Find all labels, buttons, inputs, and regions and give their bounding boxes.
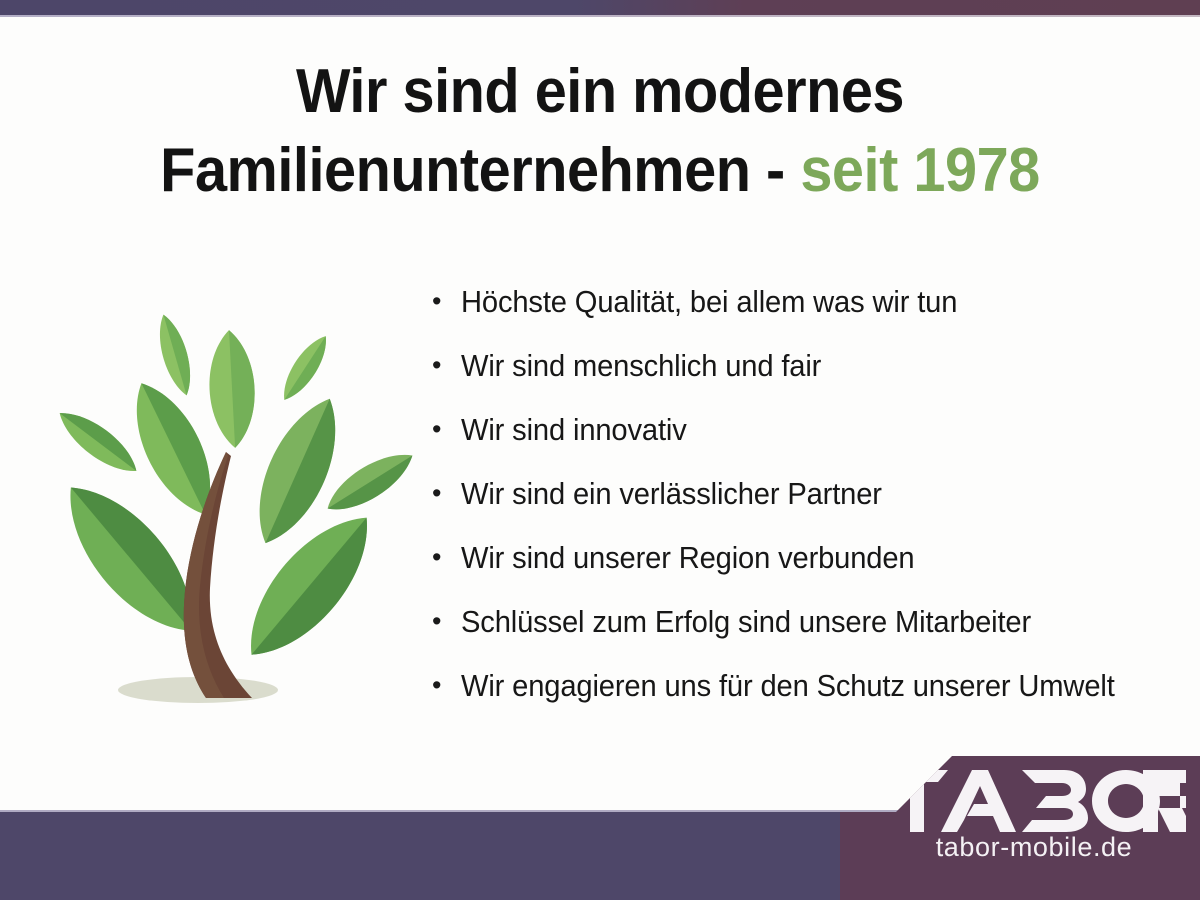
top-accent-bar xyxy=(0,0,1200,15)
list-item-label: Wir sind innovativ xyxy=(461,415,1159,446)
slide-canvas: Wir sind ein modernes Familienunternehme… xyxy=(0,0,1200,900)
leaf-lower-right xyxy=(227,497,391,676)
list-item-label: Wir engagieren uns für den Schutz unsere… xyxy=(461,671,1159,702)
list-item: Schlüssel zum Erfolg sind unsere Mitarbe… xyxy=(432,607,1192,671)
list-item: Wir sind innovativ xyxy=(432,415,1192,479)
brand-logo-block[interactable]: tabor-mobile.de xyxy=(840,756,1200,900)
list-item-label: Schlüssel zum Erfolg sind unsere Mitarbe… xyxy=(461,607,1159,638)
tabor-wordmark xyxy=(886,770,1186,832)
leaf-top-small-right xyxy=(275,330,335,406)
leaf-far-right xyxy=(319,442,420,522)
logo-domain-label: tabor-mobile.de xyxy=(840,834,1200,861)
bullet-marker-icon xyxy=(432,544,461,571)
leaf-top-small-left xyxy=(152,311,198,398)
list-item: Wir sind ein verlässlicher Partner xyxy=(432,479,1192,543)
list-item: Höchste Qualität, bei allem was wir tun xyxy=(432,287,1192,351)
bullet-marker-icon xyxy=(432,352,461,379)
bullet-marker-icon xyxy=(432,480,461,507)
list-item-label: Höchste Qualität, bei allem was wir tun xyxy=(461,287,1159,318)
bullet-marker-icon xyxy=(432,288,461,315)
list-item: Wir sind unserer Region verbunden xyxy=(432,543,1192,607)
page-title: Wir sind ein modernes Familienunternehme… xyxy=(42,52,1158,211)
headline-line-2-prefix: Familienunternehmen - xyxy=(160,136,800,205)
list-item: Wir engagieren uns für den Schutz unsere… xyxy=(432,671,1192,735)
list-item-label: Wir sind unserer Region verbunden xyxy=(461,543,1159,574)
list-item: Wir sind menschlich und fair xyxy=(432,351,1192,415)
list-item-label: Wir sind ein verlässlicher Partner xyxy=(461,479,1159,510)
headline-line-1: Wir sind ein modernes xyxy=(42,52,1158,131)
leaf-top-center xyxy=(206,329,257,449)
bullet-marker-icon xyxy=(432,672,461,699)
leaf-far-left xyxy=(51,402,145,483)
headline-accent-year: seit 1978 xyxy=(800,136,1039,205)
top-accent-hairline xyxy=(0,15,1200,17)
bullet-marker-icon xyxy=(432,608,461,635)
tree-logo-icon xyxy=(20,300,420,720)
bullet-marker-icon xyxy=(432,416,461,443)
list-item-label: Wir sind menschlich und fair xyxy=(461,351,1159,382)
value-bullet-list: Höchste Qualität, bei allem was wir tun … xyxy=(432,287,1192,735)
headline-line-2: Familienunternehmen - seit 1978 xyxy=(42,131,1158,210)
